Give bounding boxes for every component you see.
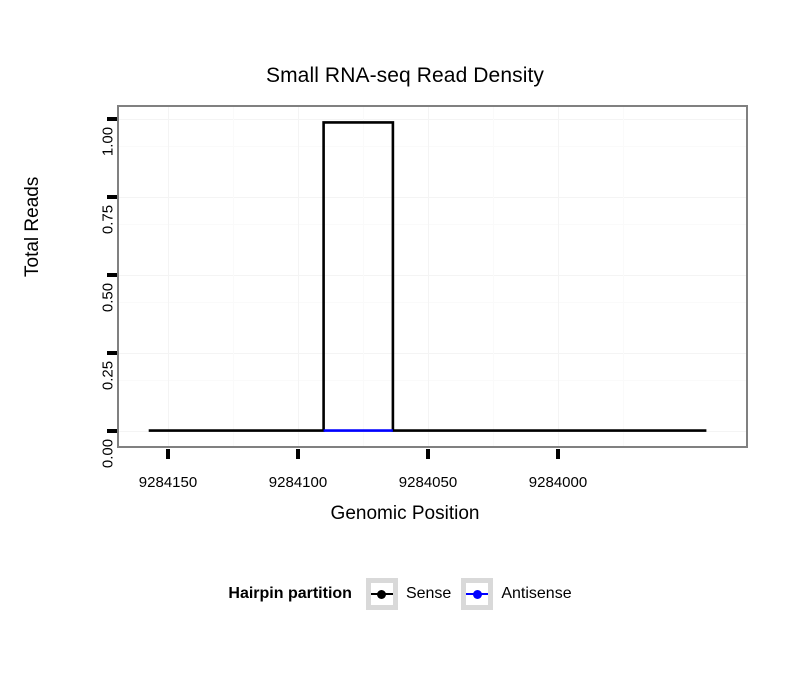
x-tick-label-1: 9284100 xyxy=(269,474,327,491)
y-tick-mark-3 xyxy=(107,195,117,199)
legend-key-inner-antisense xyxy=(466,583,488,605)
x-tick-label-2: 9284050 xyxy=(399,474,457,491)
x-axis-title: Genomic Position xyxy=(0,503,810,525)
x-tick-label-0: 9284150 xyxy=(139,474,197,491)
chart-title: Small RNA-seq Read Density xyxy=(0,64,810,88)
y-tick-mark-1 xyxy=(107,351,117,355)
x-tick-mark-0 xyxy=(166,449,170,459)
y-tick-mark-4 xyxy=(107,117,117,121)
y-tick-label-1: 0.25 xyxy=(100,353,117,399)
y-tick-label-4: 1.00 xyxy=(100,119,117,165)
y-axis-title: Total Reads xyxy=(22,177,44,277)
legend-key-antisense xyxy=(461,578,493,610)
legend-key-dot-sense xyxy=(377,590,386,599)
y-tick-mark-0 xyxy=(107,429,117,433)
x-tick-label-3: 9284000 xyxy=(529,474,587,491)
legend-label-sense: Sense xyxy=(406,585,451,603)
y-tick-label-3: 0.75 xyxy=(100,197,117,243)
x-tick-mark-1 xyxy=(296,449,300,459)
series-svg xyxy=(119,107,746,446)
data-layer xyxy=(119,107,746,446)
legend-title: Hairpin partition xyxy=(228,585,352,603)
series-line-sense xyxy=(149,122,707,430)
legend-key-sense xyxy=(366,578,398,610)
legend-label-antisense: Antisense xyxy=(501,585,571,603)
y-tick-label-0: 0.00 xyxy=(100,431,117,477)
legend-entry-sense[interactable]: Sense xyxy=(366,578,451,610)
legend-entry-antisense[interactable]: Antisense xyxy=(461,578,571,610)
plot-panel xyxy=(117,105,748,448)
y-tick-mark-2 xyxy=(107,273,117,277)
x-tick-mark-3 xyxy=(556,449,560,459)
chart-figure: Small RNA-seq Read Density Total Reads 0… xyxy=(0,0,810,690)
legend-key-dot-antisense xyxy=(473,590,482,599)
chart-legend: Hairpin partition Sense Antisense xyxy=(0,578,810,610)
y-tick-label-2: 0.50 xyxy=(100,275,117,321)
x-tick-mark-2 xyxy=(426,449,430,459)
legend-key-inner-sense xyxy=(371,583,393,605)
